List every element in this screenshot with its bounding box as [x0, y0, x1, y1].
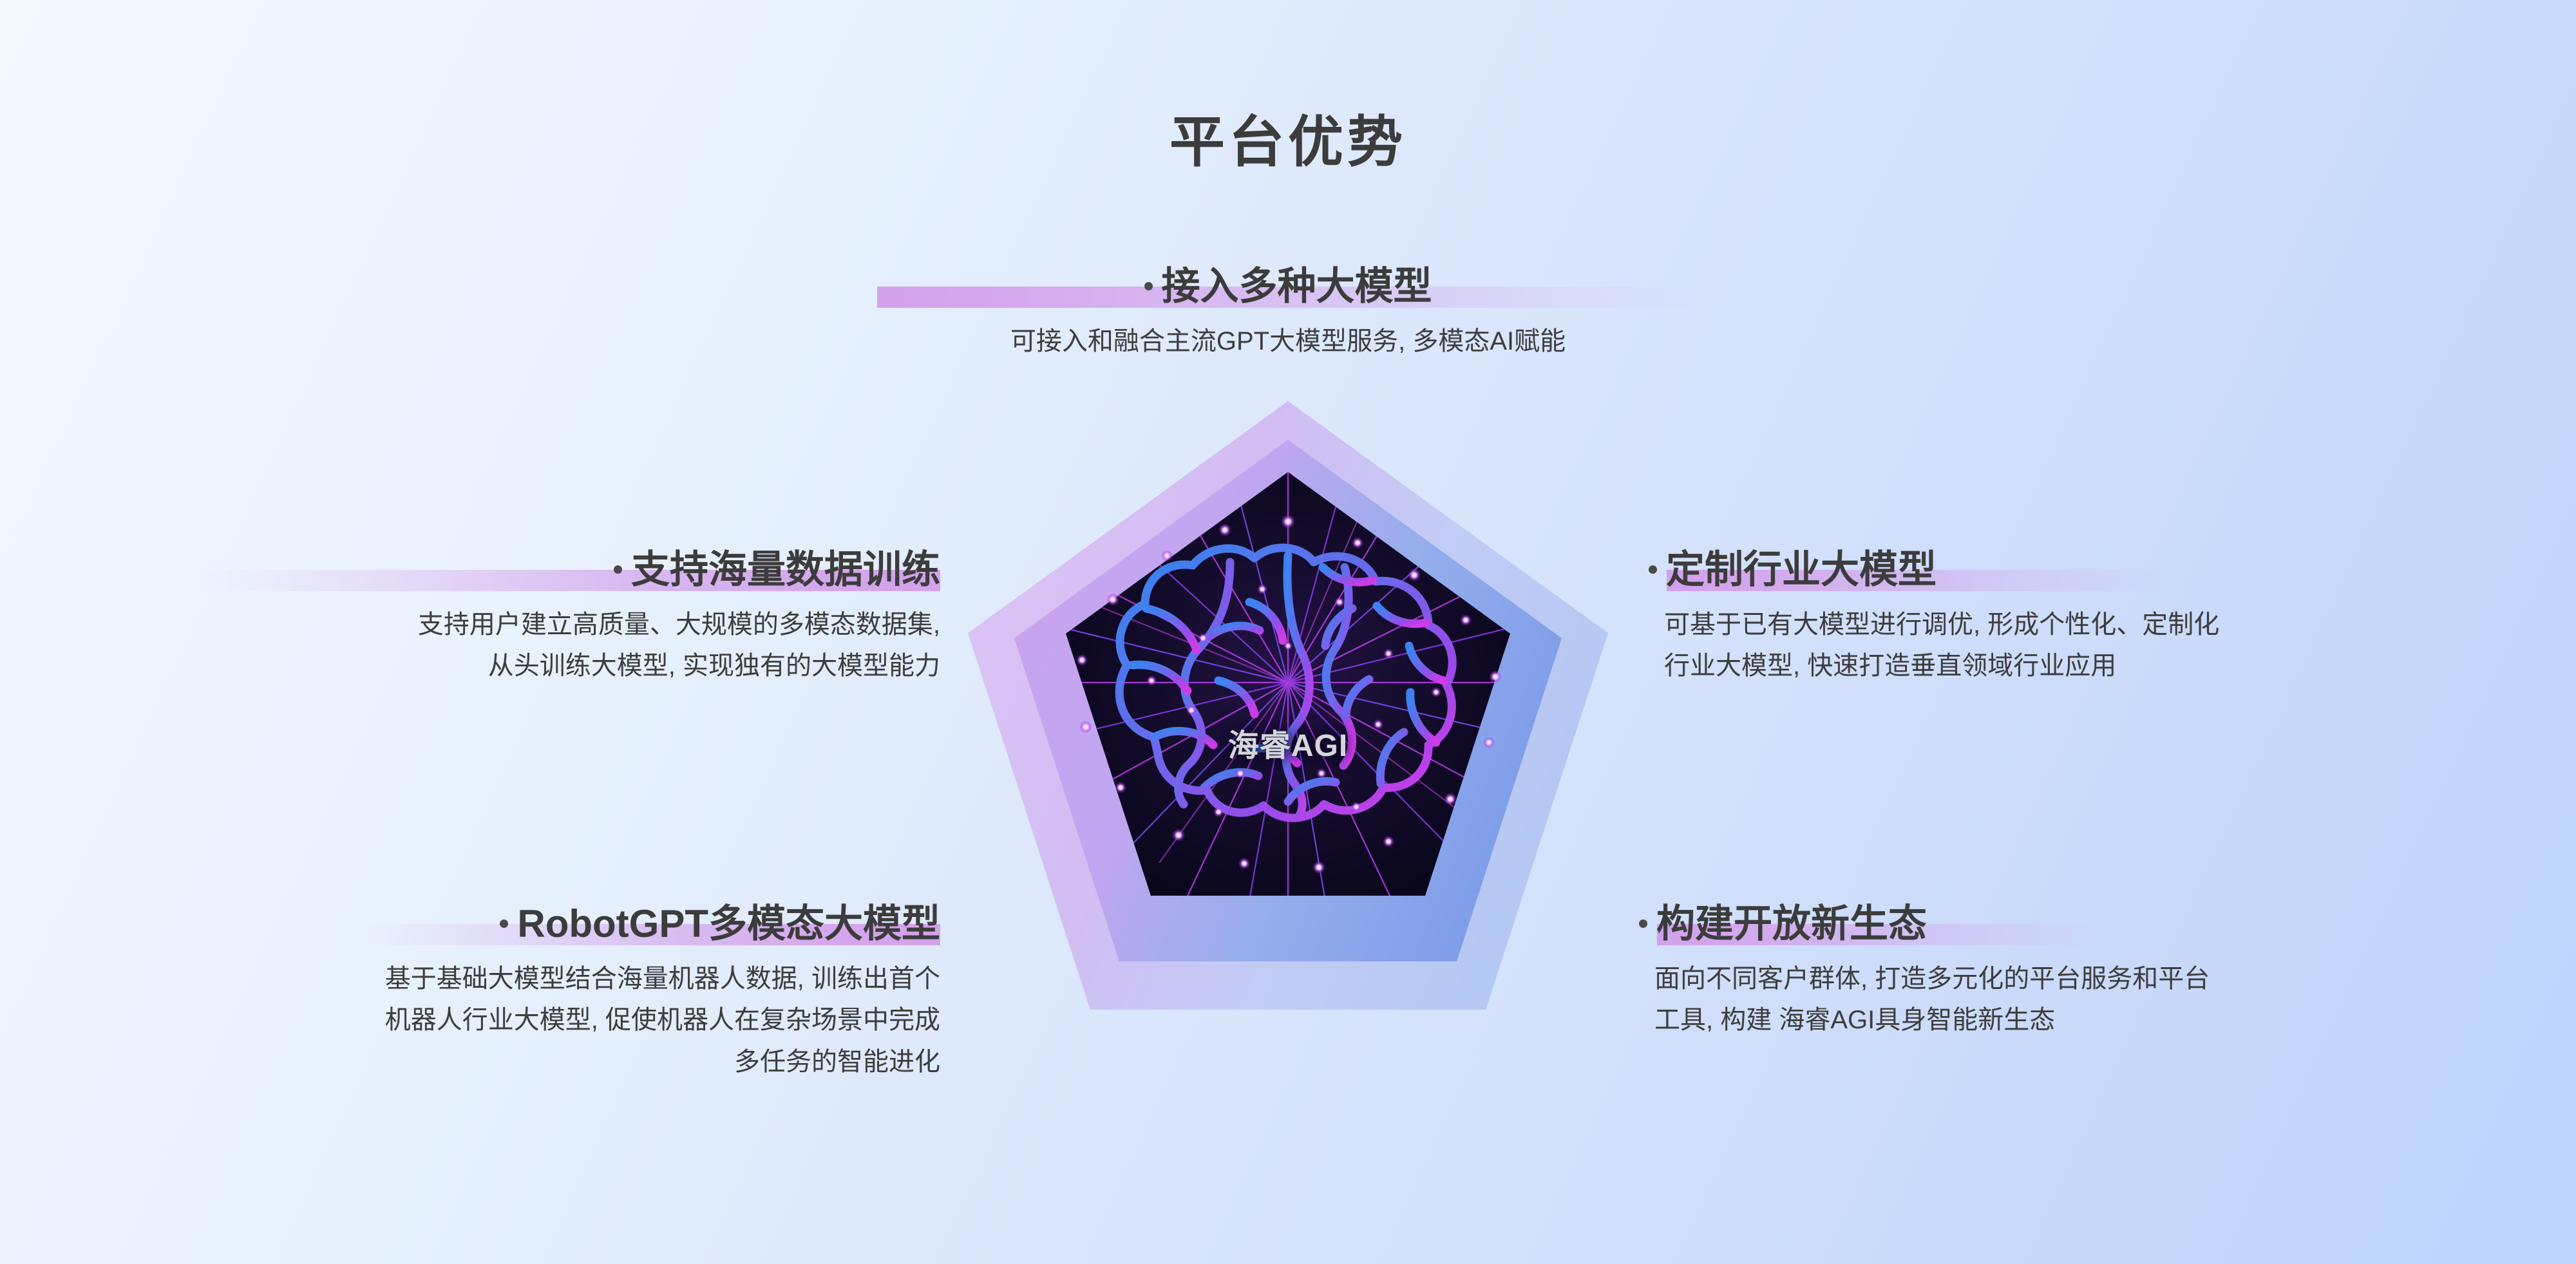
feature-open-ecosystem: 构建开放新生态 面向不同客户群体, 打造多元化的平台服务和平台 工具, 构建 海…: [1639, 901, 2541, 1041]
heading-text-wrap: 支持海量数据训练: [614, 548, 940, 591]
feature-custom-industry-model: 定制行业大模型 可基于已有大模型进行调优, 形成个性化、定制化 行业大模型, 快…: [1649, 547, 2524, 687]
desc-line: 面向不同客户群体, 打造多元化的平台服务和平台: [1654, 958, 2541, 1000]
feature-heading-label: 接入多种大模型: [1162, 265, 1432, 308]
feature-mass-data-training: 支持海量数据训练 支持用户建立高质量、大规模的多模态数据集, 从头训练大模型, …: [103, 547, 940, 687]
feature-heading-label: 构建开放新生态: [1656, 902, 1927, 945]
feature-heading: 定制行业大模型: [1649, 547, 2524, 592]
desc-line: 基于基础大模型结合海量机器人数据, 训练出首个: [103, 958, 940, 1000]
feature-description: 支持用户建立高质量、大规模的多模态数据集, 从头训练大模型, 实现独有的大模型能…: [103, 604, 940, 688]
bullet-dot-icon: [1144, 282, 1153, 290]
bullet-dot-icon: [614, 565, 622, 574]
feature-description: 基于基础大模型结合海量机器人数据, 训练出首个 机器人行业大模型, 促使机器人在…: [103, 958, 940, 1083]
feature-heading: RobotGPT多模态大模型: [103, 901, 940, 947]
center-pentagon-graphic: 海睿AGI: [927, 390, 1649, 1104]
desc-line: 从头训练大模型, 实现独有的大模型能力: [103, 645, 940, 687]
heading-text-wrap: 接入多种大模型: [1144, 265, 1432, 308]
feature-description: 可基于已有大模型进行调优, 形成个性化、定制化 行业大模型, 快速打造垂直领域行…: [1664, 604, 2524, 688]
feature-access-models: 接入多种大模型 可接入和融合主流GPT大模型服务, 多模态AI赋能: [728, 264, 1848, 362]
heading-text-wrap: RobotGPT多模态大模型: [500, 902, 940, 945]
desc-line: 多任务的智能进化: [103, 1041, 940, 1083]
heading-text-wrap: 构建开放新生态: [1639, 902, 1927, 945]
bullet-dot-icon: [500, 920, 508, 928]
heading-text-wrap: 定制行业大模型: [1649, 548, 1937, 591]
desc-line: 可接入和融合主流GPT大模型服务, 多模态AI赋能: [728, 321, 1848, 363]
feature-heading: 支持海量数据训练: [103, 547, 940, 592]
feature-heading-label: 支持海量数据训练: [631, 548, 940, 591]
feature-heading-label: 定制行业大模型: [1666, 548, 1937, 591]
platform-advantages-section: 平台优势: [0, 0, 2576, 1264]
feature-description: 面向不同客户群体, 打造多元化的平台服务和平台 工具, 构建 海睿AGI具身智能…: [1654, 958, 2541, 1042]
feature-heading-label: RobotGPT多模态大模型: [517, 902, 940, 945]
desc-line: 机器人行业大模型, 促使机器人在复杂场景中完成: [103, 999, 940, 1041]
bullet-dot-icon: [1639, 920, 1647, 928]
page-title: 平台优势: [0, 115, 2576, 170]
feature-robotgpt-multimodal: RobotGPT多模态大模型 基于基础大模型结合海量机器人数据, 训练出首个 机…: [103, 901, 940, 1083]
feature-heading: 接入多种大模型: [728, 264, 1848, 309]
feature-heading: 构建开放新生态: [1639, 901, 2541, 947]
desc-line: 支持用户建立高质量、大规模的多模态数据集,: [103, 604, 940, 646]
feature-description: 可接入和融合主流GPT大模型服务, 多模态AI赋能: [728, 321, 1848, 363]
desc-line: 可基于已有大模型进行调优, 形成个性化、定制化: [1664, 604, 2524, 646]
bullet-dot-icon: [1649, 565, 1657, 574]
desc-line: 行业大模型, 快速打造垂直领域行业应用: [1664, 645, 2524, 687]
desc-line: 工具, 构建 海睿AGI具身智能新生态: [1654, 999, 2541, 1041]
